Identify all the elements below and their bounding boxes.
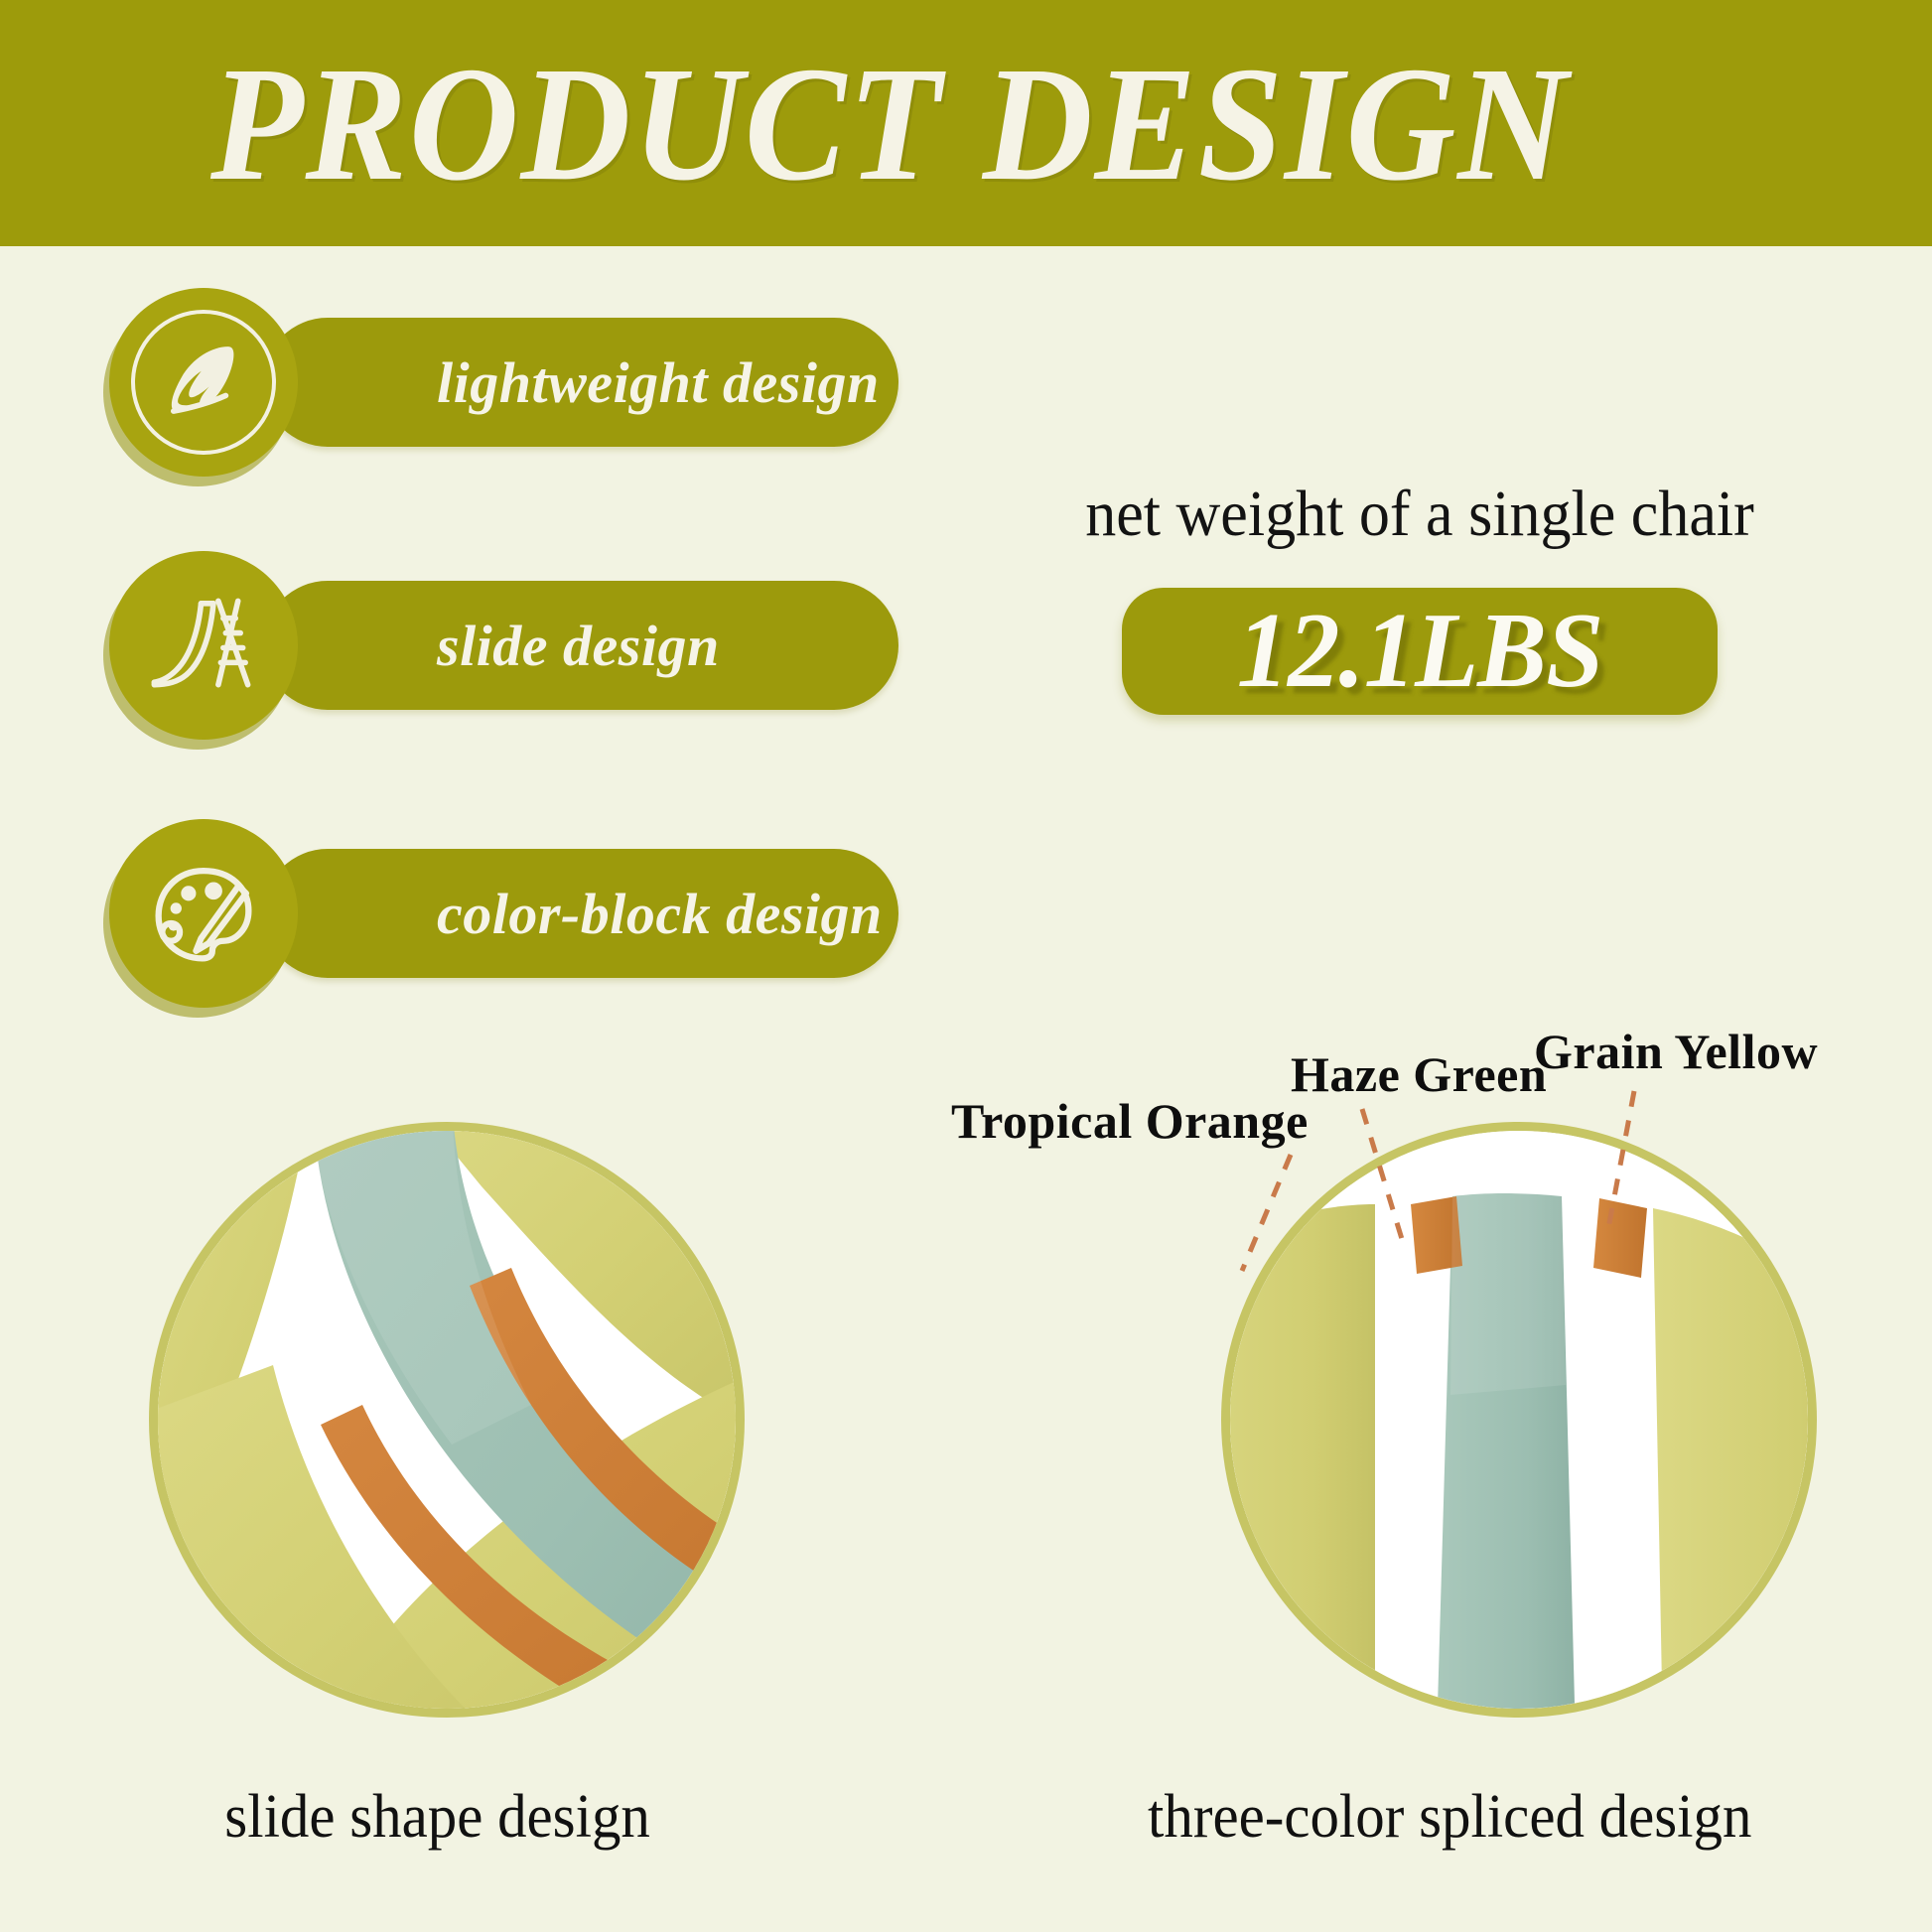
feather-icon [148,327,259,438]
leader-grain-yellow [1607,1091,1634,1234]
callout-leader-lines [0,0,1932,1932]
leader-haze-green [1362,1109,1402,1239]
slide-icon [142,584,265,707]
infographic-canvas: PRODUCT DESIGN lightweight design slide … [0,0,1932,1932]
palette-icon [141,851,266,976]
leader-tropical-orange [1242,1155,1291,1271]
